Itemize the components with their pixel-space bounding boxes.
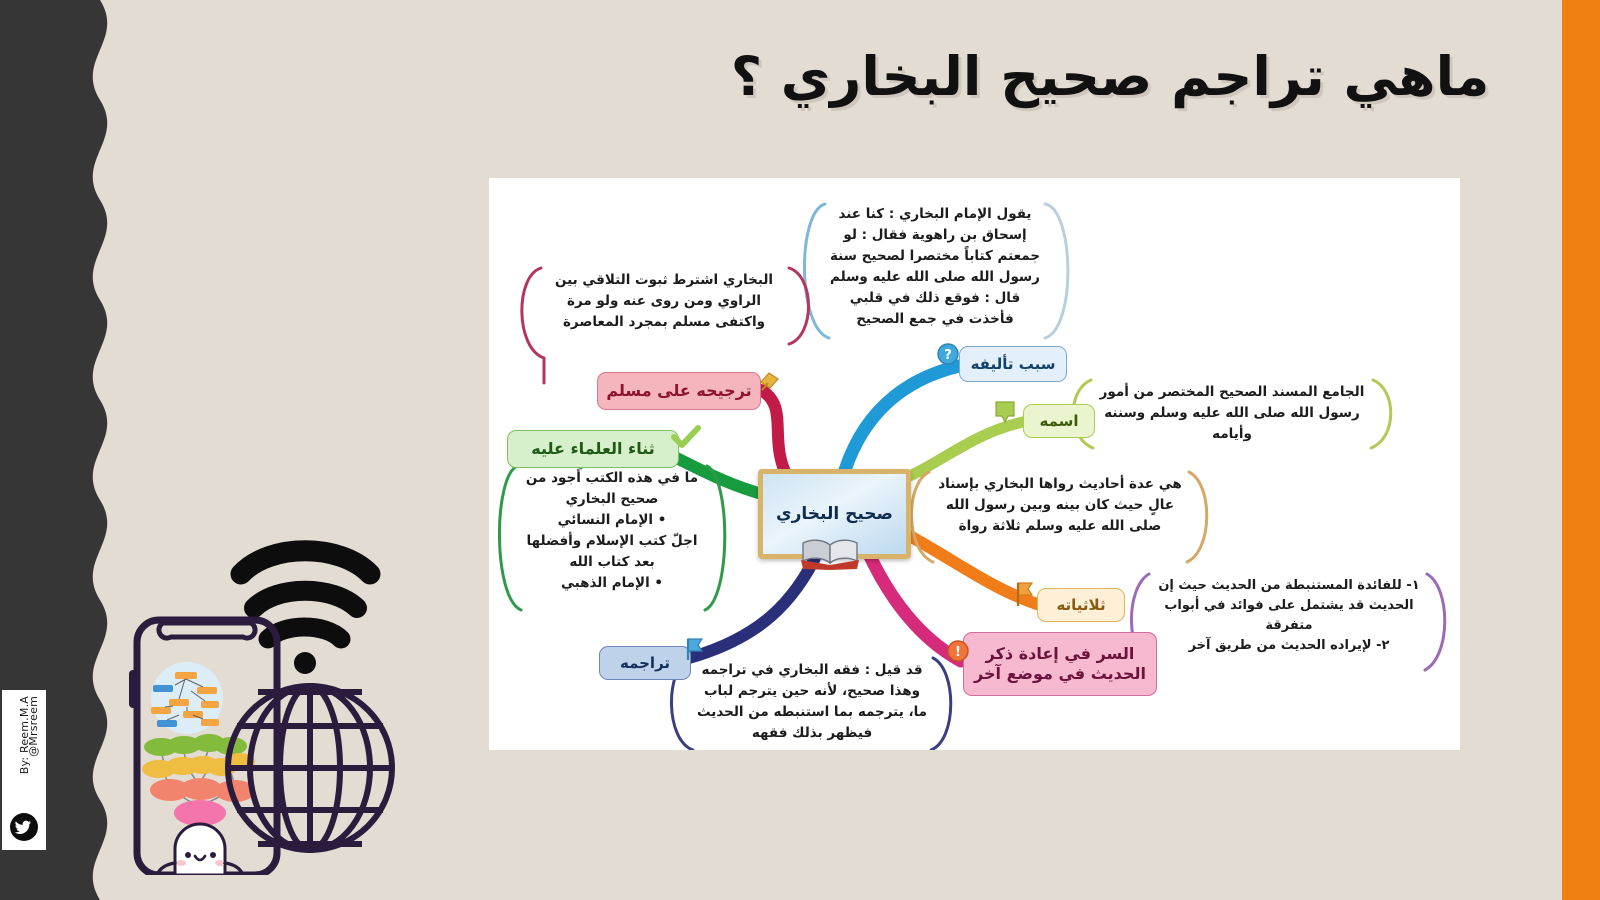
node-thalathiyat[interactable]: ثلاثياته xyxy=(1037,588,1125,622)
globe-icon xyxy=(228,686,392,850)
node-label: اسمه xyxy=(1039,412,1078,431)
node-ismuh[interactable]: اسمه xyxy=(1023,404,1095,438)
detail-thalathiyat: هي عدة أحاديث رواها البخاري بإسناد عالٍ … xyxy=(935,474,1185,537)
node-label: ثلاثياته xyxy=(1056,596,1105,615)
detail-sirr-ieadat-dhikr: ١- للفائدة المستنبطة من الحديث حيث إن ال… xyxy=(1155,576,1423,657)
wifi-icon xyxy=(241,551,370,674)
page-title: ماهي تراجم صحيح البخاري ؟ xyxy=(700,46,1520,108)
detail-thana-ulama: ما في هذه الكتب أجود من صحيح البخاري • ا… xyxy=(519,468,705,594)
node-label: ثناء العلماء عليه xyxy=(531,439,655,459)
right-accent-bar xyxy=(1562,0,1600,900)
node-label: السر في إعادة ذكر الحديث في موضع آخر xyxy=(972,644,1148,684)
node-label: تراجمه xyxy=(620,654,670,673)
cartoon-character-icon xyxy=(157,824,243,875)
open-book-icon xyxy=(799,536,861,570)
detail-sabab-taleefih: يقول الإمام البخاري : كنا عند إسحاق بن ر… xyxy=(829,204,1041,330)
twitter-bird-icon xyxy=(9,812,39,842)
svg-text:!: ! xyxy=(955,645,961,660)
node-thana-ulama[interactable]: ثناء العلماء عليه xyxy=(507,430,679,468)
decoration-group xyxy=(125,515,435,875)
question-mark-icon: ? xyxy=(935,342,961,368)
slide-root: By: Reem.M.A @Mrsreem ماهي تراجم صحيح ال… xyxy=(0,0,1600,900)
flag-icon xyxy=(1013,580,1037,608)
credit-strip: By: Reem.M.A @Mrsreem xyxy=(2,690,46,850)
node-tarjih-ala-muslim[interactable]: ترجيحه على مسلم xyxy=(597,372,761,410)
flag-icon xyxy=(683,636,707,662)
node-tarajimuh[interactable]: تراجمه xyxy=(599,646,691,680)
exclamation-icon: ! xyxy=(945,638,971,664)
credit-handle: @Mrsreem xyxy=(26,696,41,757)
center-label: صحيح البخاري xyxy=(776,504,893,524)
detail-tarjih-ala-muslim: البخاري اشترط ثبوت التلاقي بين الراوي وم… xyxy=(545,270,783,333)
detail-ismuh: الجامع المسند الصحيح المختصر من أمور رسو… xyxy=(1095,382,1369,445)
pin-icon xyxy=(757,368,783,394)
detail-tarajimuh: قد قيل : فقه البخاري في تراجمه وهذا صحيح… xyxy=(695,660,929,744)
mindmap-card: صحيح البخاري سبب تأليفه ? اسمه ثلاثياته xyxy=(489,178,1460,750)
node-sirr-ieadat-dhikr[interactable]: السر في إعادة ذكر الحديث في موضع آخر xyxy=(963,632,1157,696)
check-icon xyxy=(671,424,701,450)
svg-text:?: ? xyxy=(944,348,952,363)
node-label: ترجيحه على مسلم xyxy=(606,381,751,401)
tag-icon xyxy=(993,400,1017,426)
node-sabab-taleefih[interactable]: سبب تأليفه xyxy=(959,346,1067,382)
mindmap-thumbnail xyxy=(151,662,223,734)
node-label: سبب تأليفه xyxy=(971,355,1056,374)
